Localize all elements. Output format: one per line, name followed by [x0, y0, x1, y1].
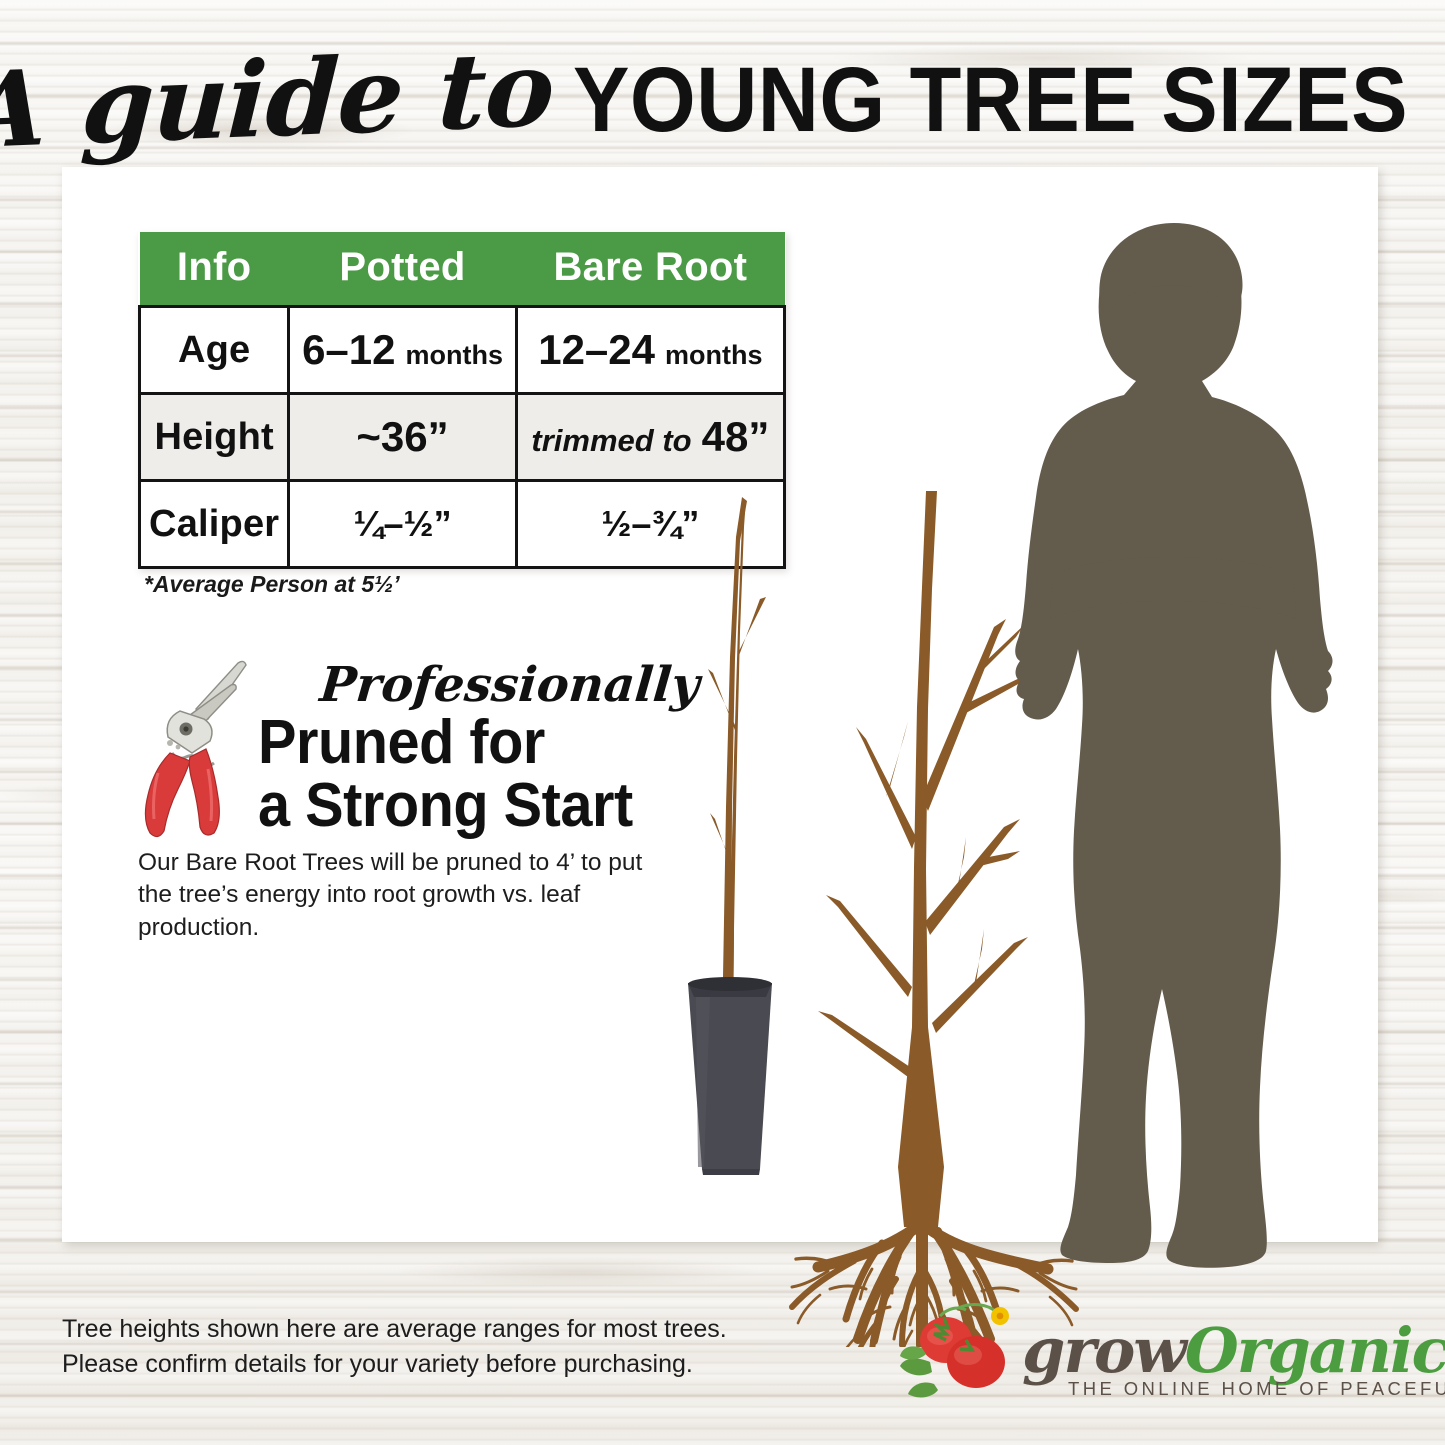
column-header-potted: Potted — [289, 232, 516, 307]
cell-age-bareroot-unit: months — [665, 340, 763, 370]
cell-caliper-potted-value: ¼–½” — [354, 503, 452, 544]
cell-age-potted: 6–12 months — [289, 307, 516, 394]
pruned-headline-line3: a Strong Start — [258, 774, 695, 837]
cell-caliper-potted: ¼–½” — [289, 481, 516, 568]
grow-organic-logo[interactable]: growOrganic.COM THE ONLINE HOME OF PEACE… — [900, 1300, 1395, 1415]
cell-age-bareroot: 12–24 months — [516, 307, 784, 394]
content-card: Info Potted Bare Root Age 6–12 months 12… — [62, 167, 1378, 1242]
cell-age-bareroot-value: 12–24 — [538, 326, 655, 373]
nursery-pot — [688, 977, 772, 1175]
pruned-headline: Professionally Pruned for a Strong Start — [258, 661, 728, 837]
column-header-bare-root: Bare Root — [516, 232, 784, 307]
logo-tagline: THE ONLINE HOME OF PEACEFUL VALLEY — [1068, 1378, 1445, 1400]
cell-age-potted-unit: months — [406, 340, 504, 370]
page-title: A guide to YOUNG TREE SIZES — [0, 42, 1445, 157]
tomato-icon — [900, 1300, 1020, 1410]
cell-height-bareroot-value: 48” — [702, 413, 770, 460]
pruned-description-line2: the tree’s energy into root growth vs. l… — [138, 879, 678, 944]
cell-height-potted-value: ~36” — [356, 413, 448, 460]
cell-height-potted: ~36” — [289, 394, 516, 481]
pruned-description: Our Bare Root Trees will be pruned to 4’… — [138, 847, 678, 944]
page-title-script: A guide to — [0, 36, 556, 163]
pruned-headline-line2: Pruned for — [258, 711, 695, 774]
table-footnote: *Average Person at 5½’ — [144, 571, 400, 598]
logo-grow: grow — [1022, 1314, 1185, 1387]
cell-age-potted-value: 6–12 — [302, 326, 395, 373]
row-label-height: Height — [140, 394, 289, 481]
logo-organic: Organic — [1185, 1314, 1445, 1387]
disclaimer-text: Tree heights shown here are average rang… — [62, 1312, 727, 1381]
page-title-block: YOUNG TREE SIZES — [573, 54, 1408, 146]
hand-pruner-icon — [134, 657, 254, 842]
row-label-caliper: Caliper — [140, 481, 289, 568]
disclaimer-line1: Tree heights shown here are average rang… — [62, 1312, 727, 1347]
disclaimer-line2: Please confirm details for your variety … — [62, 1347, 727, 1382]
row-label-age: Age — [140, 307, 289, 394]
cell-height-bareroot-prefix: trimmed to — [531, 423, 691, 458]
column-header-info: Info — [140, 232, 289, 307]
person-silhouette — [992, 219, 1352, 1279]
logo-wordmark: growOrganic.COM — [1022, 1314, 1445, 1387]
table-row: Age 6–12 months 12–24 months — [140, 307, 785, 394]
pruned-description-line1: Our Bare Root Trees will be pruned to 4’… — [138, 847, 678, 879]
table-header-row: Info Potted Bare Root — [140, 232, 785, 307]
